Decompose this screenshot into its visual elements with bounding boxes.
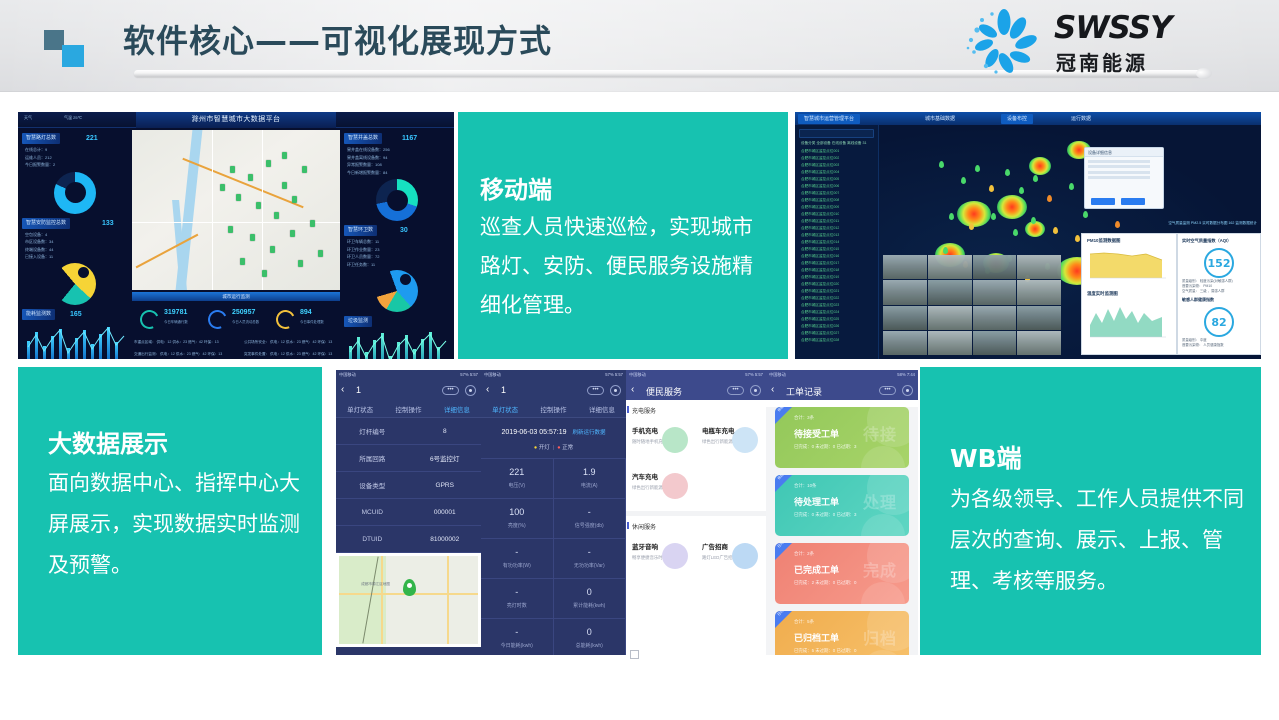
- section-kv: 环卫人员数量：72: [347, 253, 452, 261]
- tree-node[interactable]: 合肥市城区监控点位017: [801, 261, 839, 267]
- tree-node[interactable]: 合肥市城区监控点位004: [801, 170, 839, 176]
- service-item-ebike-charge[interactable]: 电瓶车充电 绿色出行新能源: [696, 419, 766, 465]
- status-timestamp: 2019-06-03 05:57:19: [502, 429, 567, 436]
- chart-title: PM10监测数据图: [1087, 238, 1176, 244]
- table-row: 设备类型 GPRS: [336, 472, 481, 499]
- tab-bar: 单灯状态 控制操作 详细信息: [481, 400, 626, 418]
- metric-value: 100: [481, 507, 553, 517]
- panel-bigdata-body: 面向数据中心、指挥中心大屏展示，实现数据实时监测及预警。: [48, 463, 310, 586]
- battery-time: 57% 5:57: [745, 372, 763, 377]
- back-icon[interactable]: ‹: [771, 384, 774, 395]
- section-kv: 环卫车辆总数：11: [347, 238, 452, 246]
- ebike-charge-icon: [732, 427, 758, 453]
- tree-node[interactable]: 合肥市城区监控点位011: [801, 219, 839, 225]
- section-kv: 在线总计：9: [25, 146, 130, 154]
- section-kv: 运维人员：212: [25, 154, 130, 162]
- camera-tile[interactable]: [883, 255, 927, 279]
- map-bottom-caption: 空气质量监测 PM2.5 实时数据分布图 162 监测数据统计: [1168, 221, 1257, 226]
- services-body: 充电服务 手机充电 随时随地手机充电 电瓶车充电 绿色出行新能源 汽车充电 绿色…: [626, 400, 766, 655]
- tab-detail[interactable]: 详细信息: [578, 404, 626, 414]
- dashboard-weather-left: 天气: [24, 115, 32, 121]
- lamp-normal-icon: ●: [557, 445, 560, 451]
- metric-cell: 0 累计能耗(kwh): [554, 578, 627, 618]
- tree-node[interactable]: 合肥市城区监控点位010: [801, 212, 839, 218]
- dashboard-center-pane: 城市运行监测 319781 今日车辆通行数 250957 今日人员流动总数 89…: [132, 130, 340, 355]
- metric-value: -: [481, 587, 553, 597]
- card-title: 待处理工单: [794, 495, 839, 508]
- tree-node[interactable]: 合肥市城区监控点位003: [801, 163, 839, 169]
- popup-locate-button[interactable]: [1121, 198, 1145, 205]
- section-label: 智慧路灯总数: [22, 133, 60, 144]
- aqi-secondary-value: 82: [1204, 307, 1234, 337]
- camera-tile[interactable]: [1017, 306, 1061, 330]
- aqi-sub-heading: 敏感人群健康指数: [1182, 297, 1260, 303]
- work-order-card-pending-process[interactable]: 待处理 处理 合计：10条 待处理工单 已完成：0 未过期：0 已过期：3: [775, 475, 909, 536]
- section-kv: 窨井盖离线设备数：94: [347, 154, 452, 162]
- card-watermark: 完成: [863, 557, 897, 581]
- stat-caption: 今日车辆通行数: [164, 319, 188, 324]
- pm10-area-chart: [1082, 246, 1172, 282]
- card-count: 合计：5条: [794, 619, 814, 625]
- tab-lamp-status[interactable]: 单灯状态: [336, 404, 384, 414]
- dashboard-right-column: 智慧井盖总数 1167 窨井盖在线设备数：256 窨井盖离线设备数：94 异常报…: [342, 130, 452, 359]
- nav-title: 1: [356, 385, 361, 395]
- page-title: 软件核心——可视化展现方式: [123, 16, 552, 62]
- device-distribution-map[interactable]: 设备详细信息 空气质量监测 PM2.5 实时数据分布图 162 监测数据统计 P…: [879, 125, 1261, 359]
- metric-value: -: [481, 547, 553, 557]
- work-order-card-completed[interactable]: 已完成 完成 合计：2条 已完成工单 已完成：2 未过期：0 已过期：0: [775, 543, 909, 604]
- more-menu-icon[interactable]: •••: [587, 386, 604, 395]
- tree-root: 设备分类 全部设备 在线设备 离线设备 31: [801, 141, 867, 147]
- tree-search-input[interactable]: [799, 129, 874, 138]
- metric-cell: - 今日能耗(kwh): [481, 618, 554, 655]
- back-icon[interactable]: ‹: [341, 384, 344, 395]
- map-street-label: 成都市锦江区地图: [361, 582, 390, 587]
- panel-web-title: WB端: [950, 439, 1022, 475]
- metric-caption: 累计能耗(kwh): [554, 602, 626, 609]
- dashboard-left-column: 智慧路灯总数 221 在线总计：9 运维人员：212 今日报警数量：2 智慧安防…: [20, 130, 130, 359]
- camera-tile[interactable]: [928, 306, 972, 330]
- row-key: MCUID: [336, 509, 409, 516]
- company-logo: SWSSY 冠南能源: [962, 6, 1222, 80]
- panel-mobile-body: 巡查人员快速巡检，实现城市路灯、安防、便民服务设施精细化管理。: [480, 208, 770, 325]
- slide-header: 软件核心——可视化展现方式 SWSSY 冠南能源: [0, 0, 1279, 92]
- aqi-sub-line: 首要污染物： 人员健康指数: [1182, 343, 1256, 348]
- tree-node[interactable]: 合肥市城区监控点位001: [801, 149, 839, 155]
- table-row: MCUID 000001: [336, 499, 481, 526]
- card-subtitle: 已完成：5 未过期：0 已过期：0: [794, 648, 856, 654]
- tree-node[interactable]: 合肥市城区监控点位022: [801, 296, 839, 302]
- ring-icon: [205, 307, 229, 331]
- section-kv: 今日报警数量：2: [25, 161, 130, 169]
- section-kv: 空包设备：4: [25, 231, 130, 239]
- close-target-icon[interactable]: [610, 385, 621, 396]
- table-row: 所属回路 6号监控灯: [336, 445, 481, 472]
- row-value: GPRS: [409, 482, 482, 489]
- section-kv: 市区设备数：34: [25, 238, 130, 246]
- camera-tile[interactable]: [883, 331, 927, 355]
- battery-time: 57% 5:57: [605, 372, 623, 377]
- row-key: DTUID: [336, 536, 409, 543]
- section-kv: 今日新增报警数量：84: [347, 169, 452, 177]
- row-value: 6号监控灯: [409, 453, 482, 463]
- aqi-panel: 实时空气质量指数（AQI） 152 质量级别： 轻度污染(对敏感人群) 首要污染…: [1177, 233, 1261, 355]
- map-pin-icon: [403, 579, 416, 596]
- row-key: 所属回路: [336, 453, 409, 463]
- chart-title: 温度实时监测图: [1087, 291, 1176, 297]
- panel-bigdata: 大数据展示 面向数据中心、指挥中心大屏展示，实现数据实时监测及预警。: [18, 367, 322, 655]
- card-title: 已归档工单: [794, 631, 839, 644]
- bar-chart: [345, 330, 450, 359]
- tab-lamp-status[interactable]: 单灯状态: [481, 404, 529, 414]
- status-bar: 中国移动 57% 5:57: [626, 370, 766, 380]
- tree-node[interactable]: 合肥市城区监控点位012: [801, 226, 839, 232]
- status-summary: 2019-06-03 05:57:19 刷新运行数据 ● 开灯 | ● 正常: [481, 418, 626, 458]
- popup-title: 设备详细信息: [1085, 148, 1163, 157]
- platform-topbar: 智慧城市运营管理平台 城市基础数据 设备布控 运行数据: [795, 112, 1261, 125]
- tab-detail[interactable]: 详细信息: [433, 404, 481, 414]
- dashboard-section-header: 智慧安防监控总数 133: [22, 218, 130, 229]
- metric-cell: 221 电压(V): [481, 458, 554, 498]
- card-subtitle: 已完成：2 未过期：0 已过期：0: [794, 580, 856, 586]
- metric-value: -: [554, 507, 626, 517]
- decor-square-blue: [62, 45, 84, 67]
- phone-lamp-status: 中国移动 57% 5:57 ‹ 1 ••• 单灯状态 控制操作 详细信息 201…: [481, 370, 626, 655]
- section-value: 30: [400, 225, 408, 236]
- tree-node[interactable]: 合肥市城区监控点位016: [801, 254, 839, 260]
- tree-node[interactable]: 合肥市城区监控点位005: [801, 177, 839, 183]
- leisure-services-grid: 蓝牙音响 畅享便捷音乐时光 广告招商 路灯LED广告招商: [626, 535, 766, 581]
- donut-chart: [376, 179, 418, 221]
- metric-cell: 1.9 电流(A): [554, 458, 627, 498]
- camera-tile[interactable]: [1017, 255, 1061, 279]
- metric-caption: 有功功率(W): [481, 562, 553, 569]
- web-platform-screenshot: 智慧城市运营管理平台 城市基础数据 设备布控 运行数据 设备分类 全部设备 在线…: [795, 112, 1261, 359]
- dashboard-topbar: 天气 气温 25℃ 滁州市智慧城市大数据平台: [18, 112, 454, 128]
- aqi-title: 实时空气质量指数（AQI）: [1182, 238, 1260, 244]
- status-bar: 中国移动 57% 5:57: [481, 370, 626, 380]
- row-value: 000001: [409, 509, 482, 516]
- dashboard-section-header: 智慧井盖总数 1167: [344, 133, 452, 144]
- location-map[interactable]: 成都市锦江区地图: [339, 556, 478, 644]
- section-kv: 已接入设备：11: [25, 253, 130, 261]
- tree-node[interactable]: 合肥市城区监控点位020: [801, 282, 839, 288]
- env-charts-panel: PM10监测数据图 温度实时监测图: [1081, 233, 1177, 355]
- stat-value: 894: [300, 309, 312, 316]
- metric-cell: 100 亮度(%): [481, 498, 554, 538]
- bar-chart: [23, 323, 128, 360]
- section-kv: 异常报警数量：108: [347, 161, 452, 169]
- section-kv: 终端设备数：44: [25, 246, 130, 254]
- status-bar: 中国移动 57% 5:57: [336, 370, 481, 380]
- camera-tile[interactable]: [928, 331, 972, 355]
- ring-icon: [273, 307, 297, 331]
- water-drop-flower-icon: [962, 8, 1046, 78]
- stat-value: 250957: [232, 309, 255, 316]
- camera-grid[interactable]: [883, 255, 1061, 355]
- device-tree-sidebar[interactable]: 设备分类 全部设备 在线设备 离线设备 31 合肥市城区监控点位001 合肥市城…: [795, 125, 879, 359]
- donut-chart: [54, 172, 96, 214]
- nav-title: 便民服务: [646, 385, 682, 398]
- card-title: 已完成工单: [794, 563, 839, 576]
- aqi-line: 空气质量： 三级 ，易感人群: [1182, 289, 1256, 294]
- camera-tile[interactable]: [883, 306, 927, 330]
- map-banner: 城市运行监测: [132, 292, 340, 301]
- panel-mobile-title: 移动端: [480, 170, 552, 205]
- camera-tile[interactable]: [883, 280, 927, 304]
- logo-subtitle: 冠南能源: [1056, 47, 1148, 76]
- line-overlay: [345, 332, 454, 359]
- tab-control[interactable]: 控制操作: [384, 404, 432, 414]
- tree-node[interactable]: 合肥市城区监控点位023: [801, 303, 839, 309]
- decor-square-dark: [44, 30, 64, 50]
- service-item-bluetooth-speaker[interactable]: 蓝牙音响 畅享便捷音乐时光: [626, 535, 696, 581]
- card-count: 合计：10条: [794, 483, 816, 489]
- phone-filler: [336, 647, 481, 655]
- row-value: 81000002: [409, 536, 482, 543]
- nav-bar: ‹ 1 •••: [481, 380, 626, 400]
- stat-caption: 今日人员流动总数: [232, 319, 259, 324]
- service-item-advertising[interactable]: 广告招商 路灯LED广告招商: [696, 535, 766, 581]
- phone-work-orders: 中国移动 58% 7:44 ‹ 工单记录 ••• 待接受 待接 合计：3条 待接…: [766, 370, 918, 655]
- card-watermark: 归档: [863, 625, 897, 649]
- tree-node[interactable]: 合肥市城区监控点位006: [801, 184, 839, 190]
- close-target-icon[interactable]: [750, 385, 761, 396]
- popup-detail-button[interactable]: [1091, 198, 1115, 205]
- tree-node[interactable]: 合肥市城区监控点位028: [801, 338, 839, 344]
- tree-node[interactable]: 合肥市城区监控点位024: [801, 310, 839, 316]
- metric-cell: 0 总能耗(kwh): [554, 618, 627, 655]
- camera-tile[interactable]: [1017, 331, 1061, 355]
- metric-caption: 无功功率(Var): [554, 562, 626, 569]
- metric-value: 0: [554, 587, 626, 597]
- nav-bar: ‹ 便民服务 •••: [626, 380, 766, 400]
- dashboard-tag-row: 公共场所安全： 供电：12 供水：23 燃气：42 环保：13: [244, 340, 338, 345]
- metric-cell: - 无功功率(Var): [554, 538, 627, 578]
- device-info-popup[interactable]: 设备详细信息: [1084, 147, 1164, 209]
- lamp-normal-label: 正常: [562, 445, 573, 451]
- metric-value: 221: [481, 467, 553, 477]
- pie-chart: [54, 263, 96, 305]
- temperature-area-chart: [1082, 299, 1172, 341]
- tree-node[interactable]: 合肥市城区监控点位015: [801, 247, 839, 253]
- camera-tile[interactable]: [973, 280, 1017, 304]
- section-heading-charging: 充电服务: [626, 400, 766, 419]
- logo-wordmark: SWSSY: [1054, 10, 1172, 46]
- back-icon[interactable]: ‹: [486, 384, 489, 395]
- metric-value: 1.9: [554, 467, 626, 477]
- section-value: 165: [70, 309, 82, 320]
- dashboard-weather-mid: 气温 25℃: [64, 115, 82, 121]
- status-bar: 中国移动 58% 7:44: [766, 370, 918, 380]
- more-menu-icon[interactable]: •••: [879, 386, 896, 395]
- section-value: 1167: [402, 133, 417, 144]
- bluetooth-speaker-icon: [662, 543, 688, 569]
- section-label: 垃圾监测: [344, 316, 372, 327]
- work-order-list: 待接受 待接 合计：3条 待接受工单 已完成：0 未过期：0 已过期：3 待处理…: [766, 407, 918, 655]
- section-heading-leisure: 休闲服务: [626, 516, 766, 535]
- dashboard-section-header: 能耗监测数 165: [22, 309, 130, 320]
- row-key: 设备类型: [336, 480, 409, 490]
- more-menu-icon[interactable]: •••: [727, 386, 744, 395]
- camera-tile[interactable]: [1017, 280, 1061, 304]
- dashboard-section-header: 垃圾监测: [344, 316, 452, 327]
- metric-cell: - 亮灯时数: [481, 578, 554, 618]
- dashboard-section-header: 智慧环卫数 30: [344, 225, 452, 236]
- camera-tile[interactable]: [928, 280, 972, 304]
- car-charge-icon: [662, 473, 688, 499]
- table-row: DTUID 81000002: [336, 526, 481, 553]
- phone-charge-icon: [662, 427, 688, 453]
- close-target-icon[interactable]: [902, 385, 913, 396]
- metric-value: 0: [554, 627, 626, 637]
- metric-grid: 221 电压(V) 1.9 电流(A) 100 亮度(%) - 信号强度(db)…: [481, 458, 626, 655]
- dashboard-tag-row: 突发事件处置： 供电：12 供水：23 燃气：42 环保：13: [244, 352, 338, 357]
- tree-node[interactable]: 合肥市城区监控点位018: [801, 268, 839, 274]
- metric-value: -: [554, 547, 626, 557]
- metric-caption: 亮灯时数: [481, 602, 553, 609]
- panel-bigdata-title: 大数据展示: [48, 424, 168, 459]
- tree-node[interactable]: 合肥市城区监控点位007: [801, 191, 839, 197]
- nav-title: 工单记录: [786, 385, 822, 398]
- ring-icon: [137, 307, 161, 331]
- camera-tile[interactable]: [973, 255, 1017, 279]
- tab-base-data[interactable]: 城市基础数据: [919, 114, 961, 124]
- metric-caption: 亮度(%): [481, 522, 553, 529]
- detail-rows: 灯杆编号 8 所属回路 6号监控灯 设备类型 GPRS MCUID 000001…: [336, 418, 481, 553]
- section-kv: 窨井盖在线设备数：256: [347, 146, 452, 154]
- stat-caption: 今日事件处理数: [300, 319, 324, 324]
- card-title: 待接受工单: [794, 427, 839, 440]
- section-label: 智慧井盖总数: [344, 133, 382, 144]
- nav-bar: ‹ 工单记录 •••: [766, 380, 918, 400]
- carrier-label: 中国移动: [629, 372, 646, 378]
- metric-cell: - 有功功率(W): [481, 538, 554, 578]
- card-watermark: 处理: [863, 489, 897, 513]
- lamp-on-label: 开灯: [539, 445, 550, 451]
- section-kv: 环卫作业数量：23: [347, 246, 452, 254]
- tab-control[interactable]: 控制操作: [529, 404, 577, 414]
- section-label: 智慧环卫数: [344, 225, 377, 236]
- tree-node[interactable]: 合肥市城区监控点位019: [801, 275, 839, 281]
- tree-node[interactable]: 合肥市城区监控点位013: [801, 233, 839, 239]
- panel-mobile: 移动端 巡查人员快速巡检，实现城市路灯、安防、便民服务设施精细化管理。: [458, 112, 788, 359]
- metric-value: -: [481, 627, 553, 637]
- row-value: 8: [409, 428, 482, 435]
- row-key: 灯杆编号: [336, 426, 409, 436]
- stat-value: 319781: [164, 309, 187, 316]
- card-watermark: 待接: [863, 421, 897, 445]
- service-item-phone-charge[interactable]: 手机充电 随时随地手机充电: [626, 419, 696, 465]
- section-label: 能耗监测数: [22, 309, 55, 320]
- lamp-on-icon: ●: [534, 445, 537, 451]
- carrier-label: 中国移动: [339, 372, 356, 378]
- tree-node[interactable]: 合肥市城区监控点位021: [801, 289, 839, 295]
- dashboard-stat-row: 319781 今日车辆通行数 250957 今日人员流动总数 894 今日事件处…: [132, 304, 340, 338]
- battery-time: 57% 5:57: [460, 372, 478, 377]
- tab-device-deploy[interactable]: 设备布控: [1001, 114, 1033, 124]
- tree-node[interactable]: 合肥市城区监控点位002: [801, 156, 839, 162]
- card-count: 合计：2条: [794, 551, 814, 557]
- tab-platform-name[interactable]: 智慧城市运营管理平台: [798, 114, 860, 124]
- tab-bar: 单灯状态 控制操作 详细信息: [336, 400, 481, 418]
- billboard-icon: [732, 543, 758, 569]
- metric-caption: 信号强度(db): [554, 522, 626, 529]
- nav-title: 1: [501, 385, 506, 395]
- carrier-label: 中国移动: [484, 372, 501, 378]
- tree-node[interactable]: 合肥市城区监控点位008: [801, 198, 839, 204]
- metric-caption: 今日能耗(kwh): [481, 642, 553, 649]
- slide-corner-marker: [630, 650, 639, 659]
- service-item-empty: [696, 465, 766, 511]
- charging-services-grid: 手机充电 随时随地手机充电 电瓶车充电 绿色出行新能源 汽车充电 绿色出行新能源: [626, 419, 766, 511]
- card-count: 合计：3条: [794, 415, 814, 421]
- metric-caption: 电压(V): [481, 482, 553, 489]
- section-value: 221: [86, 133, 98, 144]
- tree-node[interactable]: 合肥市城区监控点位009: [801, 205, 839, 211]
- card-subtitle: 已完成：0 未过期：0 已过期：3: [794, 444, 856, 450]
- line-overlay: [23, 325, 133, 360]
- table-row: 灯杆编号 8: [336, 418, 481, 445]
- phone-lamp-detail: 中国移动 57% 5:57 ‹ 1 ••• 单灯状态 控制操作 详细信息 灯杆编…: [336, 370, 481, 655]
- dashboard-section-header: 智慧路灯总数 221: [22, 133, 130, 144]
- section-kv: 环卫任务数：11: [347, 261, 452, 269]
- big-data-dashboard-screenshot: 天气 气温 25℃ 滁州市智慧城市大数据平台 智慧路灯总数 221 在线总计：9…: [18, 112, 454, 359]
- phone-public-services: 中国移动 57% 5:57 ‹ 便民服务 ••• 充电服务 手机充电 随时随地手…: [626, 370, 766, 655]
- close-target-icon[interactable]: [465, 385, 476, 396]
- metric-caption: 电流(A): [554, 482, 626, 489]
- dashboard-banner-title: 滁州市智慧城市大数据平台: [136, 112, 336, 128]
- refresh-link[interactable]: 刷新运行数据: [572, 430, 605, 436]
- city-map[interactable]: [132, 130, 340, 290]
- back-icon[interactable]: ‹: [631, 384, 634, 395]
- nav-bar: ‹ 1 •••: [336, 380, 481, 400]
- metric-cell: - 信号强度(db): [554, 498, 627, 538]
- battery-time: 58% 7:44: [897, 372, 915, 377]
- camera-tile[interactable]: [928, 255, 972, 279]
- tree-node[interactable]: 合肥市城区监控点位014: [801, 240, 839, 246]
- work-order-card-pending-accept[interactable]: 待接受 待接 合计：3条 待接受工单 已完成：0 未过期：0 已过期：3: [775, 407, 909, 468]
- tab-runtime-data[interactable]: 运行数据: [1065, 114, 1097, 124]
- metric-caption: 总能耗(kwh): [554, 642, 626, 649]
- work-order-card-archived[interactable]: 已归档 归档 合计：5条 已归档工单 已完成：5 未过期：0 已过期：0: [775, 611, 909, 655]
- camera-tile[interactable]: [973, 331, 1017, 355]
- panel-web: WB端 为各级领导、工作人员提供不同层次的查询、展示、上报、管理、考核等服务。: [920, 367, 1261, 655]
- tree-node[interactable]: 合肥市城区监控点位025: [801, 317, 839, 323]
- aqi-primary-value: 152: [1204, 248, 1234, 278]
- pie-chart: [376, 270, 418, 312]
- tree-node[interactable]: 合肥市城区监控点位027: [801, 331, 839, 337]
- tree-node[interactable]: 合肥市城区监控点位026: [801, 324, 839, 330]
- section-value: 133: [102, 218, 114, 229]
- section-label: 智慧安防监控总数: [22, 218, 70, 229]
- carrier-label: 中国移动: [769, 372, 786, 378]
- more-menu-icon[interactable]: •••: [442, 386, 459, 395]
- card-subtitle: 已完成：0 未过期：0 已过期：3: [794, 512, 856, 518]
- camera-tile[interactable]: [973, 306, 1017, 330]
- service-item-car-charge[interactable]: 汽车充电 绿色出行新能源: [626, 465, 696, 511]
- panel-web-body: 为各级领导、工作人员提供不同层次的查询、展示、上报、管理、考核等服务。: [950, 479, 1250, 602]
